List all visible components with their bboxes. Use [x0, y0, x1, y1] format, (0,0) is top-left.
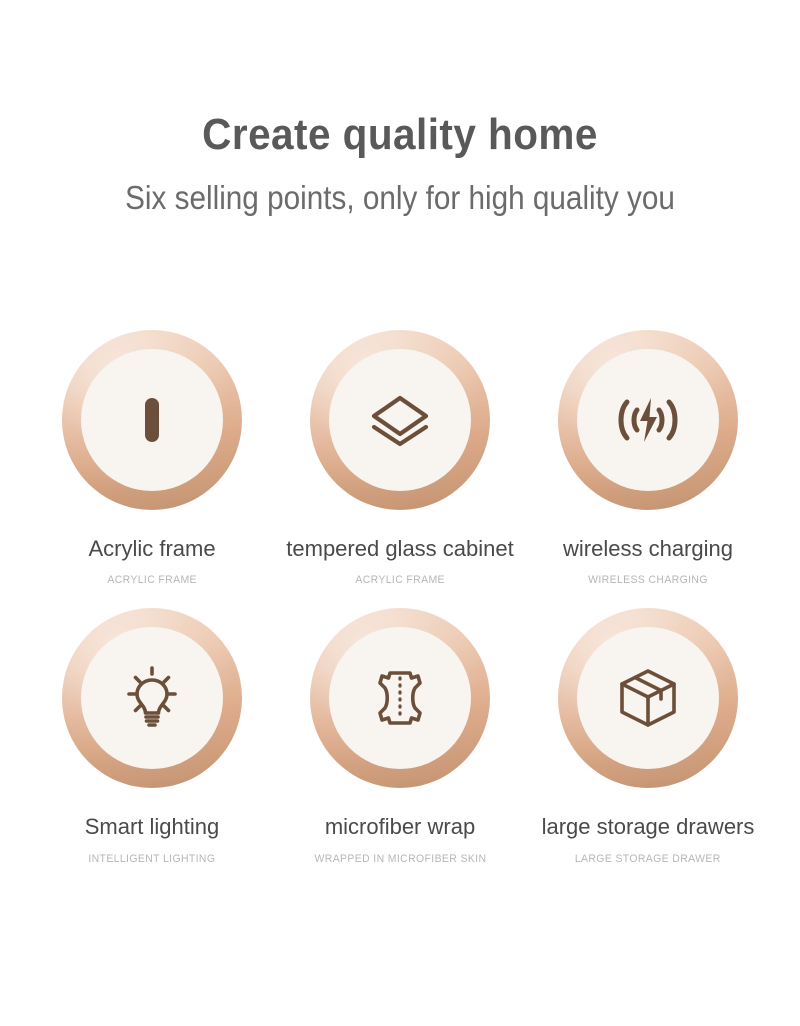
badge-inner-circle	[329, 349, 471, 491]
feature-badge	[558, 330, 738, 510]
feature-item-wireless-charging[interactable]: wireless charging WIRELESS CHARGING	[524, 330, 772, 586]
feature-item-large-storage-drawers[interactable]: large storage drawers LARGE STORAGE DRAW…	[524, 608, 772, 864]
feature-item-acrylic-frame[interactable]: Acrylic frame ACRYLIC FRAME	[28, 330, 276, 586]
feature-badge	[62, 330, 242, 510]
feature-sublabel: LARGE STORAGE DRAWER	[575, 853, 721, 865]
lightbulb-icon	[115, 661, 189, 735]
feature-label: Smart lighting	[85, 814, 220, 840]
feature-sublabel: ACRYLIC FRAME	[355, 574, 445, 586]
leather-hide-icon	[364, 662, 436, 734]
feature-sublabel: ACRYLIC FRAME	[107, 574, 197, 586]
feature-item-smart-lighting[interactable]: Smart lighting INTELLIGENT LIGHTING	[28, 608, 276, 864]
layers-icon	[364, 384, 436, 456]
package-box-icon	[612, 662, 684, 734]
badge-inner-circle	[329, 627, 471, 769]
feature-label: Acrylic frame	[88, 536, 215, 562]
feature-label: large storage drawers	[542, 814, 755, 840]
feature-badge	[558, 608, 738, 788]
page-title: Create quality home	[32, 112, 768, 158]
page-header: Create quality home Six selling points, …	[0, 0, 800, 216]
page-subtitle: Six selling points, only for high qualit…	[40, 158, 760, 216]
feature-grid: Acrylic frame ACRYLIC FRAME temp	[0, 330, 800, 865]
feature-row-2: Smart lighting INTELLIGENT LIGHTING	[0, 608, 800, 864]
acrylic-frame-bar-icon	[117, 385, 187, 455]
badge-inner-circle	[81, 627, 223, 769]
wireless-charging-icon	[612, 384, 684, 456]
badge-inner-circle	[577, 349, 719, 491]
feature-badge	[310, 330, 490, 510]
feature-row-1: Acrylic frame ACRYLIC FRAME temp	[0, 330, 800, 586]
feature-highlights-page: Create quality home Six selling points, …	[0, 0, 800, 1026]
feature-badge	[62, 608, 242, 788]
feature-label: tempered glass cabinet	[286, 536, 513, 562]
feature-sublabel: WRAPPED IN MICROFIBER SKIN	[314, 853, 486, 865]
badge-inner-circle	[81, 349, 223, 491]
feature-item-tempered-glass-cabinet[interactable]: tempered glass cabinet ACRYLIC FRAME	[276, 330, 524, 586]
feature-label: microfiber wrap	[325, 814, 475, 840]
feature-sublabel: WIRELESS CHARGING	[588, 574, 708, 586]
badge-inner-circle	[577, 627, 719, 769]
feature-label: wireless charging	[563, 536, 733, 562]
feature-sublabel: INTELLIGENT LIGHTING	[88, 853, 215, 865]
feature-badge	[310, 608, 490, 788]
feature-item-microfiber-wrap[interactable]: microfiber wrap WRAPPED IN MICROFIBER SK…	[276, 608, 524, 864]
